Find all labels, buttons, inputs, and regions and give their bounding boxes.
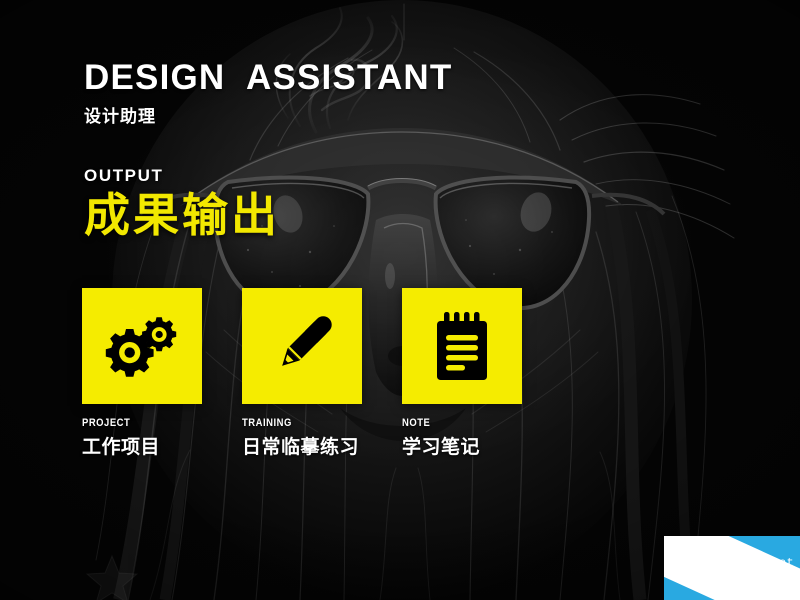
tile-project-label-en: PROJECT <box>82 417 185 429</box>
gears-icon <box>105 311 179 381</box>
slide-canvas: DESIGN ASSISTANT 设计助理 OUTPUT 成果输出 <box>0 0 800 600</box>
page-title: DESIGN ASSISTANT 设计助理 <box>84 60 453 127</box>
section-heading: OUTPUT 成果输出 <box>84 166 280 239</box>
tile-project-swatch[interactable] <box>82 288 202 404</box>
section-label-chinese: 成果输出 <box>84 191 280 239</box>
tile-note[interactable]: NOTE 学习笔记 <box>402 288 522 459</box>
tile-training-label-en: TRAINING <box>242 417 345 429</box>
tile-training[interactable]: TRAINING 日常临摹练习 <box>242 288 362 459</box>
tile-training-swatch[interactable] <box>242 288 362 404</box>
watermark-url: jb51.net <box>734 556 794 570</box>
tile-note-label-en: NOTE <box>402 417 505 429</box>
title-chinese: 设计助理 <box>84 102 453 127</box>
tile-note-label-cn: 学习笔记 <box>402 432 522 459</box>
output-tile-row: PROJECT 工作项目 <box>82 288 522 459</box>
tile-project-label-cn: 工作项目 <box>82 432 202 459</box>
tile-training-label-cn: 日常临摹练习 <box>242 432 362 459</box>
tile-project[interactable]: PROJECT 工作项目 <box>82 288 202 459</box>
site-watermark[interactable]: jb51.net 脚本之家 <box>664 536 800 600</box>
pencil-icon <box>266 310 338 382</box>
title-english: DESIGN ASSISTANT <box>84 60 453 95</box>
notepad-icon <box>431 310 493 382</box>
section-label-english: OUTPUT <box>84 166 280 186</box>
tile-note-swatch[interactable] <box>402 288 522 404</box>
watermark-name: 脚本之家 <box>705 569 795 599</box>
